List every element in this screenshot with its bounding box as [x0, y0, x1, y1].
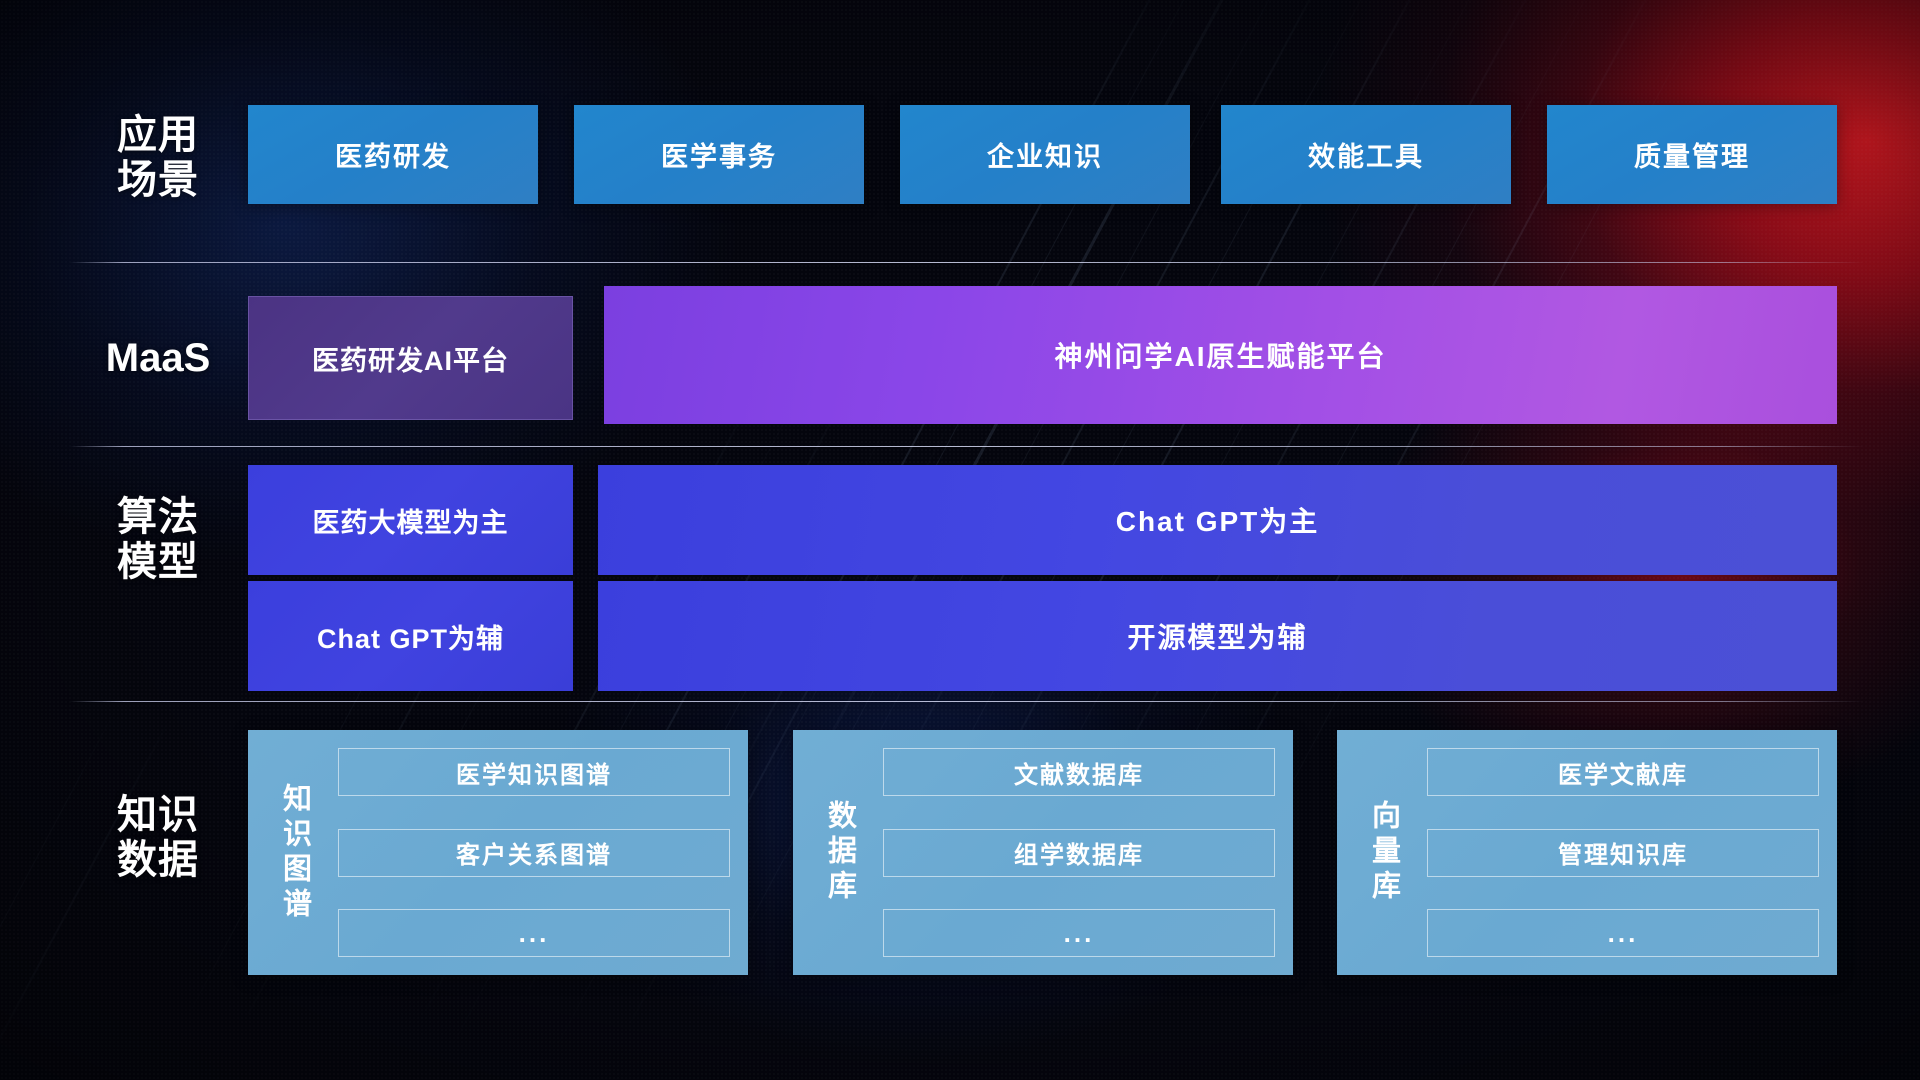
maas-box-pharma-platform[interactable]: 医药研发AI平台 [248, 296, 573, 420]
knowledge-card-1-vertical-label: 知识图谱 [258, 744, 330, 961]
algo-box-left-2[interactable]: Chat GPT为辅 [248, 581, 573, 691]
algo-box-right-1[interactable]: Chat GPT为主 [598, 465, 1837, 575]
row-label-text-line-1: 应用 [78, 113, 238, 158]
knowledge-card-vector-store[interactable]: 向量库 医学文献库 管理知识库 ... [1337, 730, 1837, 975]
scenario-box-1[interactable]: 医药研发 [248, 105, 538, 204]
row-label-text-maas: MaaS [78, 336, 238, 381]
row-label-algorithm-models: 算法 模型 [78, 495, 238, 585]
knowledge-item-1-1[interactable]: 医学知识图谱 [338, 748, 730, 796]
scenario-label-3: 企业知识 [987, 135, 1103, 174]
scenario-box-4[interactable]: 效能工具 [1221, 105, 1511, 204]
knowledge-card-3-vertical-label: 向量库 [1347, 744, 1419, 961]
knowledge-item-3-1[interactable]: 医学文献库 [1427, 748, 1819, 796]
scenario-box-5[interactable]: 质量管理 [1547, 105, 1837, 204]
knowledge-item-3-2[interactable]: 管理知识库 [1427, 829, 1819, 877]
row-label-text-knowledge-line-1: 知识 [78, 793, 238, 838]
knowledge-item-1-3[interactable]: ... [338, 909, 730, 957]
row-label-knowledge-data: 知识 数据 [78, 793, 238, 883]
algo-label-left-1: 医药大模型为主 [313, 501, 509, 540]
knowledge-item-1-2[interactable]: 客户关系图谱 [338, 829, 730, 877]
algo-label-right-2: 开源模型为辅 [1127, 616, 1307, 656]
algo-label-right-1: Chat GPT为主 [1116, 500, 1320, 540]
scenario-label-5: 质量管理 [1634, 135, 1750, 174]
maas-box-shenzhou-platform[interactable]: 神州问学AI原生赋能平台 [604, 286, 1837, 424]
divider-3 [70, 701, 1864, 702]
divider-2 [70, 446, 1864, 447]
knowledge-item-3-3[interactable]: ... [1427, 909, 1819, 957]
knowledge-card-1-items: 医学知识图谱 客户关系图谱 ... [330, 744, 734, 961]
maas-label-shenzhou-platform: 神州问学AI原生赋能平台 [1054, 335, 1386, 375]
knowledge-item-2-1[interactable]: 文献数据库 [883, 748, 1275, 796]
algo-box-left-1[interactable]: 医药大模型为主 [248, 465, 573, 575]
scenario-label-4: 效能工具 [1308, 135, 1424, 174]
knowledge-card-3-items: 医学文献库 管理知识库 ... [1419, 744, 1823, 961]
knowledge-card-knowledge-graph[interactable]: 知识图谱 医学知识图谱 客户关系图谱 ... [248, 730, 748, 975]
scenario-box-2[interactable]: 医学事务 [574, 105, 864, 204]
knowledge-item-2-3[interactable]: ... [883, 909, 1275, 957]
algo-box-right-2[interactable]: 开源模型为辅 [598, 581, 1837, 691]
diagram-stage: 应用 场景 医药研发 医学事务 企业知识 效能工具 质量管理 MaaS 医药研发… [0, 0, 1920, 1080]
scenario-box-3[interactable]: 企业知识 [900, 105, 1190, 204]
row-label-text-line-2: 场景 [78, 158, 238, 203]
knowledge-card-2-items: 文献数据库 组学数据库 ... [875, 744, 1279, 961]
knowledge-card-2-vertical-label: 数据库 [803, 744, 875, 961]
row-label-text-knowledge-line-2: 数据 [78, 838, 238, 883]
scenario-label-2: 医学事务 [661, 135, 777, 174]
row-label-maas: MaaS [78, 336, 238, 381]
scenario-label-1: 医药研发 [335, 135, 451, 174]
maas-label-pharma-platform: 医药研发AI平台 [312, 339, 509, 378]
divider-1 [70, 262, 1864, 263]
row-label-application-scenarios: 应用 场景 [78, 113, 238, 203]
row-label-text-algo-line-1: 算法 [78, 495, 238, 540]
algo-label-left-2: Chat GPT为辅 [317, 617, 504, 656]
knowledge-item-2-2[interactable]: 组学数据库 [883, 829, 1275, 877]
row-label-text-algo-line-2: 模型 [78, 540, 238, 585]
knowledge-card-database[interactable]: 数据库 文献数据库 组学数据库 ... [793, 730, 1293, 975]
